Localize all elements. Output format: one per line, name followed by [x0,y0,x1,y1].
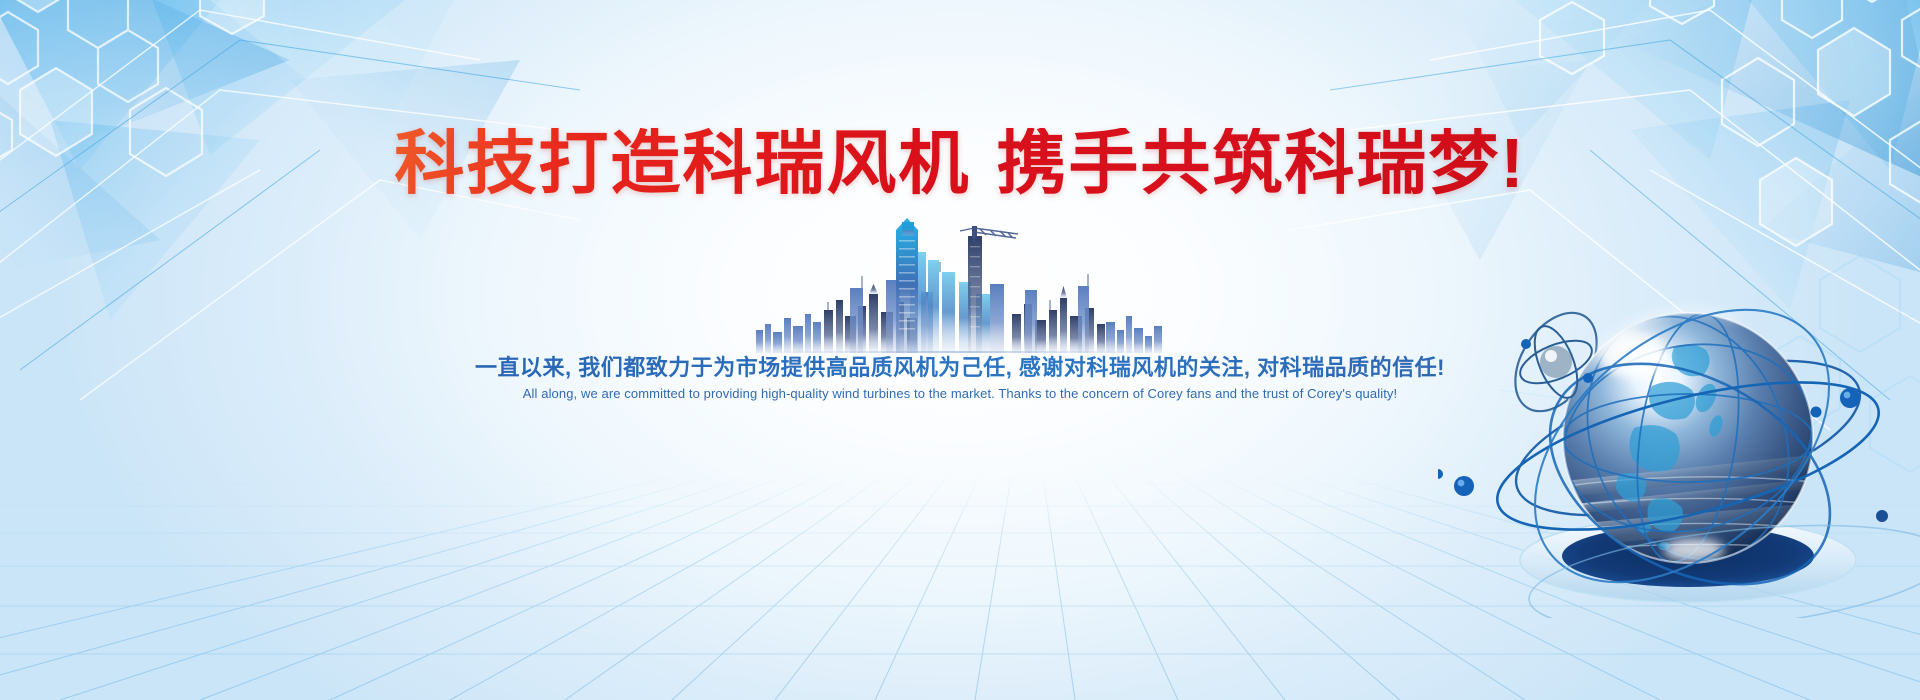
banner-headline: 科技打造科瑞风机携手共筑科瑞梦! [394,128,1525,198]
headline-part-2: 携手共筑科瑞梦! [996,124,1525,202]
glass-globe-graphic [1438,278,1920,618]
headline-part-1: 科技打造科瑞风机 [394,124,970,202]
marketing-banner: 科技打造科瑞风机携手共筑科瑞梦! 一直以来, 我们都致力于为市场提供高品质风机为… [0,0,1920,700]
